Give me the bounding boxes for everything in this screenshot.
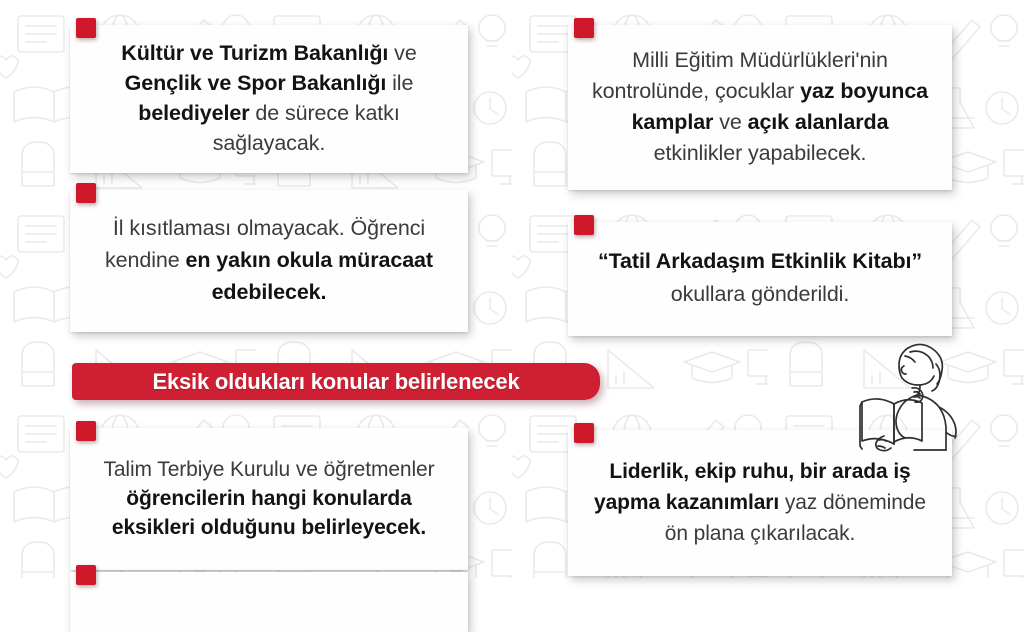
info-card-text: Kültür ve Turizm Bakanlığı ve Gençlik ve… (70, 32, 468, 166)
red-square-marker-icon (76, 18, 96, 38)
info-card-text: İl kısıtlaması olmayacak. Öğrenci kendin… (70, 206, 468, 316)
info-card-il-kisitlamasi: İl kısıtlaması olmayacak. Öğrenci kendin… (70, 190, 468, 332)
info-card-text: Milli Eğitim Müdürlükleri'nin kontrolünd… (568, 39, 952, 177)
section-banner-label: Eksik oldukları konular belirlenecek (153, 369, 520, 395)
info-card-partial-cutoff (70, 572, 468, 632)
info-card-tatil-arkadasim: “Tatil Arkadaşım Etkinlik Kitabı” okulla… (568, 222, 952, 336)
section-banner-eksik-konular: Eksik oldukları konular belirlenecek (72, 363, 600, 400)
red-square-marker-icon (574, 18, 594, 38)
red-square-marker-icon (76, 183, 96, 203)
info-card-talim-terbiye: Talim Terbiye Kurulu ve öğretmenler öğre… (70, 428, 468, 570)
info-card-kultur-turizm: Kültür ve Turizm Bakanlığı ve Gençlik ve… (70, 25, 468, 173)
red-square-marker-icon (574, 215, 594, 235)
red-square-marker-icon (574, 423, 594, 443)
info-card-liderlik: Liderlik, ekip ruhu, bir arada iş yapma … (568, 430, 952, 576)
infographic-stage: Kültür ve Turizm Bakanlığı ve Gençlik ve… (0, 0, 1024, 578)
info-card-text: Liderlik, ekip ruhu, bir arada iş yapma … (568, 450, 952, 557)
red-square-marker-icon (76, 565, 96, 585)
red-square-marker-icon (76, 421, 96, 441)
info-card-text: “Tatil Arkadaşım Etkinlik Kitabı” okulla… (568, 239, 952, 319)
info-card-text: Talim Terbiye Kurulu ve öğretmenler öğre… (70, 449, 468, 550)
info-card-milli-egitim: Milli Eğitim Müdürlükleri'nin kontrolünd… (568, 25, 952, 190)
